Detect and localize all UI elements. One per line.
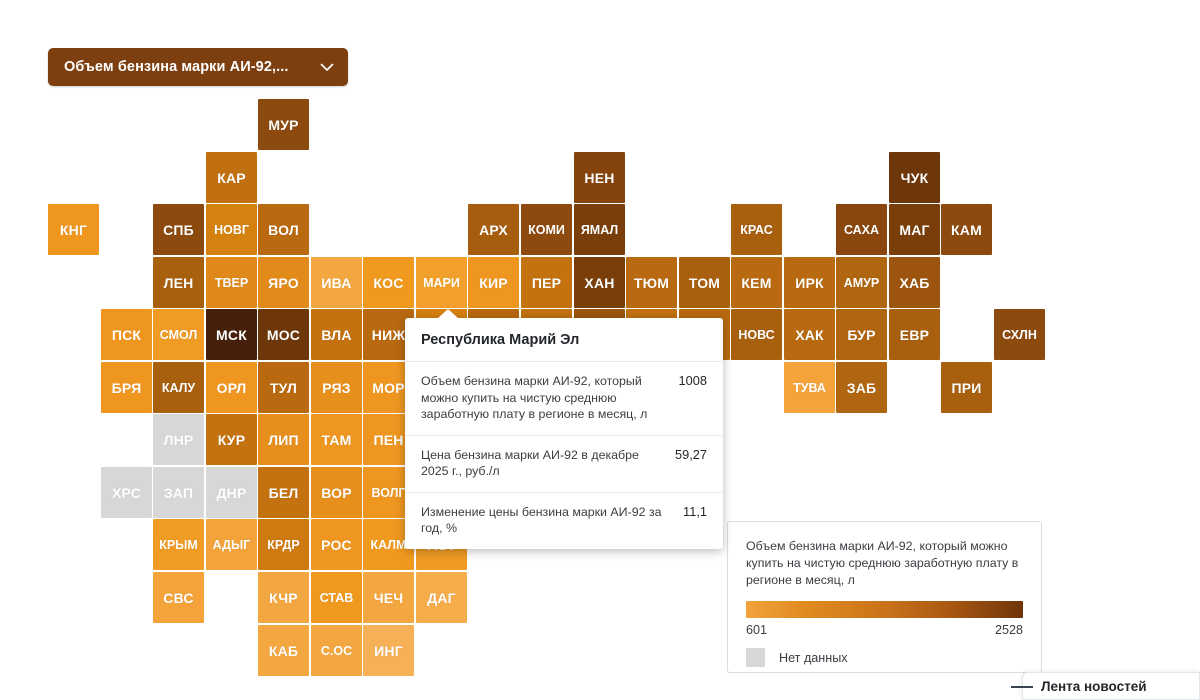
legend-caption: Объем бензина марки АИ-92, который можно…	[746, 538, 1023, 589]
tooltip-row-value: 59,27	[675, 447, 707, 462]
map-tile-label: СХЛН	[1002, 328, 1037, 342]
map-tile-НОВС[interactable]: НОВС	[731, 309, 782, 360]
map-tile-ЛЕН[interactable]: ЛЕН	[153, 257, 204, 308]
map-tile-ЯРО[interactable]: ЯРО	[258, 257, 309, 308]
map-tile-label: ТОМ	[689, 275, 720, 291]
map-tile-label: МУР	[268, 117, 298, 133]
map-tile-ЕВР[interactable]: ЕВР	[889, 309, 940, 360]
map-tile-label: ЗАБ	[847, 380, 877, 396]
map-tile-label: БЕЛ	[269, 485, 299, 501]
map-tile-АРХ[interactable]: АРХ	[468, 204, 519, 255]
tooltip-title: Республика Марий Эл	[405, 318, 723, 362]
legend-nodata-label: Нет данных	[779, 651, 848, 665]
map-tile-ТОМ[interactable]: ТОМ	[679, 257, 730, 308]
map-tile-КУР[interactable]: КУР	[206, 414, 257, 465]
map-tile-КРЫМ[interactable]: КРЫМ	[153, 519, 204, 570]
map-tile-ЧУК[interactable]: ЧУК	[889, 152, 940, 203]
legend-min-value: 601	[746, 623, 767, 637]
map-tile-label: КУР	[218, 432, 246, 448]
map-tile-label: ПЕН	[373, 432, 403, 448]
map-tile-С.ОС[interactable]: С.ОС	[311, 625, 362, 676]
map-tile-МУР[interactable]: МУР	[258, 99, 309, 150]
map-tile-МАРИ[interactable]: МАРИ	[416, 257, 467, 308]
legend-color-ramp	[746, 601, 1023, 618]
map-tile-БУР[interactable]: БУР	[836, 309, 887, 360]
map-tile-label: ПСК	[112, 327, 141, 343]
map-tile-КИР[interactable]: КИР	[468, 257, 519, 308]
map-tile-label: КЧР	[269, 590, 298, 606]
map-tile-label: КАЛУ	[162, 381, 195, 395]
map-tile-МОС[interactable]: МОС	[258, 309, 309, 360]
map-tile-КЧР[interactable]: КЧР	[258, 572, 309, 623]
map-tile-ЗАБ[interactable]: ЗАБ	[836, 362, 887, 413]
map-tile-label: КРЫМ	[159, 538, 198, 552]
map-tile-РЯЗ[interactable]: РЯЗ	[311, 362, 362, 413]
map-tile-label: С.ОС	[321, 644, 352, 658]
map-tile-label: БРЯ	[112, 380, 142, 396]
map-tile-label: НЕН	[584, 170, 614, 186]
map-tile-ЛНР[interactable]: ЛНР	[153, 414, 204, 465]
map-tile-label: ХАБ	[899, 275, 929, 291]
map-tile-ХАК[interactable]: ХАК	[784, 309, 835, 360]
map-tile-label: ПЕР	[532, 275, 561, 291]
map-tile-label: ЯМАЛ	[581, 223, 618, 237]
map-tile-НОВГ[interactable]: НОВГ	[206, 204, 257, 255]
map-tile-СМОЛ[interactable]: СМОЛ	[153, 309, 204, 360]
map-tile-ВЛА[interactable]: ВЛА	[311, 309, 362, 360]
map-tile-МАГ[interactable]: МАГ	[889, 204, 940, 255]
map-tile-ХАБ[interactable]: ХАБ	[889, 257, 940, 308]
map-tile-label: КАМ	[951, 222, 982, 238]
map-tile-СПБ[interactable]: СПБ	[153, 204, 204, 255]
map-tile-БЕЛ[interactable]: БЕЛ	[258, 467, 309, 518]
map-tile-label: НОВС	[738, 328, 774, 342]
map-tile-КЕМ[interactable]: КЕМ	[731, 257, 782, 308]
map-tile-label: ЕВР	[900, 327, 929, 343]
map-tile-label: ЯРО	[268, 275, 299, 291]
map-tile-label: ТВЕР	[215, 276, 248, 290]
news-feed-title: Лента новостей	[1041, 679, 1147, 694]
tooltip-row: Объем бензина марки АИ-92, который можно…	[405, 362, 723, 436]
map-tile-label: КОС	[373, 275, 403, 291]
map-tile-СТАВ[interactable]: СТАВ	[311, 572, 362, 623]
map-tile-label: НИЖ	[372, 327, 405, 343]
map-tile-БРЯ[interactable]: БРЯ	[101, 362, 152, 413]
map-tile-label: ЛЕН	[164, 275, 194, 291]
map-tile-label: САХА	[844, 223, 879, 237]
map-tile-label: ХАН	[584, 275, 614, 291]
map-tile-label: ТАМ	[321, 432, 351, 448]
map-tile-ЧЕЧ[interactable]: ЧЕЧ	[363, 572, 414, 623]
map-tile-КРДР[interactable]: КРДР	[258, 519, 309, 570]
map-tile-label: ЧЕЧ	[374, 590, 404, 606]
map-tile-label: АМУР	[844, 276, 880, 290]
map-tile-РОС[interactable]: РОС	[311, 519, 362, 570]
map-tile-label: КИР	[479, 275, 508, 291]
metric-dropdown-label: Объем бензина марки АИ-92,...	[64, 59, 289, 75]
map-tile-label: ДАГ	[427, 590, 456, 606]
map-tile-label: ВОР	[321, 485, 352, 501]
map-tile-label: АДЫГ	[213, 538, 251, 552]
tooltip-row-value: 1008	[679, 373, 707, 388]
chevron-down-icon	[318, 58, 336, 76]
legend-scale-ends: 601 2528	[746, 623, 1023, 637]
map-tile-ВОР[interactable]: ВОР	[311, 467, 362, 518]
map-tile-КНГ[interactable]: КНГ	[48, 204, 99, 255]
map-tile-label: ЛИП	[268, 432, 299, 448]
map-tile-label: ТЮМ	[634, 275, 669, 291]
map-tile-КАМ[interactable]: КАМ	[941, 204, 992, 255]
map-tile-label: ИРК	[795, 275, 824, 291]
map-tile-КАР[interactable]: КАР	[206, 152, 257, 203]
map-tile-label: СМОЛ	[160, 328, 197, 342]
map-tile-label: КРАС	[740, 223, 773, 237]
map-tile-КОС[interactable]: КОС	[363, 257, 414, 308]
map-tile-ИНГ[interactable]: ИНГ	[363, 625, 414, 676]
map-tile-label: СПБ	[163, 222, 194, 238]
map-tile-label: ВЛА	[321, 327, 351, 343]
map-tile-label: ХРС	[112, 485, 141, 501]
map-tile-label: ЧУК	[901, 170, 929, 186]
map-tile-label: МОР	[372, 380, 405, 396]
map-tile-label: ЗАП	[164, 485, 193, 501]
map-tile-СХЛН[interactable]: СХЛН	[994, 309, 1045, 360]
map-tile-ТАМ[interactable]: ТАМ	[311, 414, 362, 465]
metric-dropdown[interactable]: Объем бензина марки АИ-92,...	[48, 48, 348, 86]
map-tile-label: ИНГ	[374, 643, 403, 659]
map-tile-label: ПРИ	[951, 380, 981, 396]
map-tile-ПСК[interactable]: ПСК	[101, 309, 152, 360]
map-tile-label: КАР	[217, 170, 246, 186]
map-tile-label: КАЛМ	[371, 538, 407, 552]
legend-nodata-swatch	[746, 648, 765, 667]
tooltip-row-label: Цена бензина марки АИ-92 в декабре 2025 …	[421, 447, 675, 480]
tooltip-row: Изменение цены бензина марки АИ-92 за го…	[405, 493, 723, 549]
map-tile-label: ХАК	[795, 327, 824, 343]
map-tile-label: МСК	[216, 327, 247, 343]
map-tile-label: МАРИ	[423, 276, 460, 290]
map-tile-label: КНГ	[60, 222, 87, 238]
region-tooltip: Республика Марий Эл Объем бензина марки …	[405, 318, 723, 549]
map-tile-label: СТАВ	[320, 591, 354, 605]
map-tile-label: ДНР	[216, 485, 246, 501]
map-tile-ПРИ[interactable]: ПРИ	[941, 362, 992, 413]
map-tile-ТВЕР[interactable]: ТВЕР	[206, 257, 257, 308]
legend-max-value: 2528	[995, 623, 1023, 637]
map-tile-НЕН[interactable]: НЕН	[574, 152, 625, 203]
map-tile-label: МОС	[267, 327, 300, 343]
map-tile-label: ТУЛ	[270, 380, 297, 396]
map-tile-label: СВС	[163, 590, 193, 606]
map-tile-ДНР[interactable]: ДНР	[206, 467, 257, 518]
legend-nodata-entry: Нет данных	[746, 648, 1023, 667]
map-tile-ОРЛ[interactable]: ОРЛ	[206, 362, 257, 413]
map-tile-ВОЛ[interactable]: ВОЛ	[258, 204, 309, 255]
map-tile-КРАС[interactable]: КРАС	[731, 204, 782, 255]
map-tile-СВС[interactable]: СВС	[153, 572, 204, 623]
map-tile-МСК[interactable]: МСК	[206, 309, 257, 360]
map-tile-АДЫГ[interactable]: АДЫГ	[206, 519, 257, 570]
map-tile-label: КАБ	[269, 643, 298, 659]
map-tile-label: КОМИ	[528, 223, 565, 237]
map-tile-label: ВОЛГ	[372, 486, 406, 500]
map-tile-ДАГ[interactable]: ДАГ	[416, 572, 467, 623]
map-tile-label: КЕМ	[741, 275, 771, 291]
map-tile-label: ИВА	[321, 275, 351, 291]
map-tile-label: АРХ	[479, 222, 508, 238]
news-feed-handle-icon	[1011, 686, 1033, 688]
legend-panel: Объем бензина марки АИ-92, который можно…	[727, 521, 1042, 673]
map-tile-ПЕР[interactable]: ПЕР	[521, 257, 572, 308]
map-tile-ЛИП[interactable]: ЛИП	[258, 414, 309, 465]
map-tile-КОМИ[interactable]: КОМИ	[521, 204, 572, 255]
map-tile-САХА[interactable]: САХА	[836, 204, 887, 255]
map-tile-ТУВА[interactable]: ТУВА	[784, 362, 835, 413]
news-feed-widget[interactable]: Лента новостей	[1022, 672, 1200, 700]
tooltip-arrow	[438, 309, 458, 318]
map-tile-КАЛУ[interactable]: КАЛУ	[153, 362, 204, 413]
map-tile-label: НОВГ	[214, 223, 249, 237]
tooltip-row: Цена бензина марки АИ-92 в декабре 2025 …	[405, 436, 723, 493]
map-tile-label: РОС	[321, 537, 352, 553]
tooltip-row-value: 11,1	[683, 504, 707, 519]
map-tile-label: ОРЛ	[217, 380, 247, 396]
map-tile-label: ЛНР	[164, 432, 194, 448]
map-tile-АМУР[interactable]: АМУР	[836, 257, 887, 308]
map-tile-label: МАГ	[899, 222, 929, 238]
map-tile-label: ВОЛ	[268, 222, 299, 238]
map-tile-ЯМАЛ[interactable]: ЯМАЛ	[574, 204, 625, 255]
map-tile-КАБ[interactable]: КАБ	[258, 625, 309, 676]
map-tile-label: БУР	[847, 327, 875, 343]
map-tile-label: ТУВА	[793, 381, 826, 395]
map-tile-ИРК[interactable]: ИРК	[784, 257, 835, 308]
tooltip-row-label: Изменение цены бензина марки АИ-92 за го…	[421, 504, 683, 537]
map-tile-ТУЛ[interactable]: ТУЛ	[258, 362, 309, 413]
map-tile-ХРС[interactable]: ХРС	[101, 467, 152, 518]
map-tile-ТЮМ[interactable]: ТЮМ	[626, 257, 677, 308]
map-tile-label: РЯЗ	[322, 380, 350, 396]
map-tile-label: КРДР	[267, 538, 299, 552]
tooltip-row-label: Объем бензина марки АИ-92, который можно…	[421, 373, 679, 423]
map-tile-ХАН[interactable]: ХАН	[574, 257, 625, 308]
map-tile-ИВА[interactable]: ИВА	[311, 257, 362, 308]
map-tile-ЗАП[interactable]: ЗАП	[153, 467, 204, 518]
